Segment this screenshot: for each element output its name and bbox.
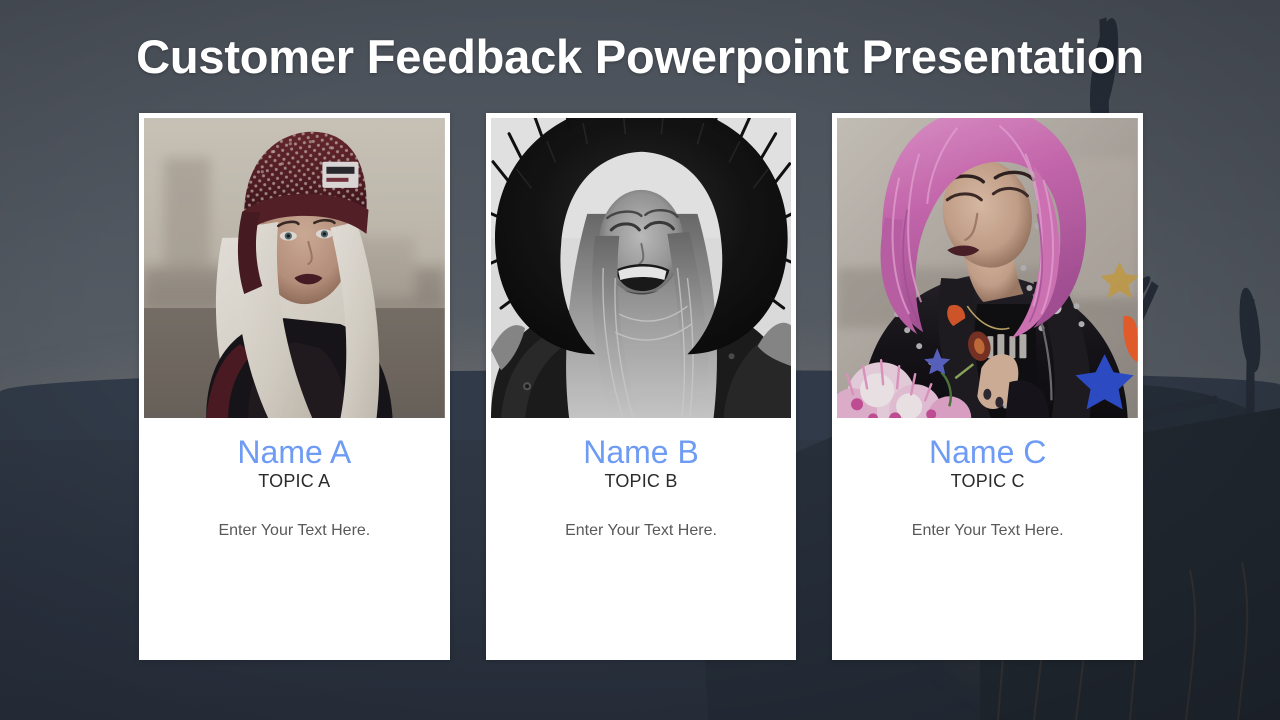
- profile-photo-a: [144, 118, 445, 418]
- profile-name-a: Name A: [153, 434, 436, 471]
- photo-frame-a: [139, 113, 450, 418]
- profile-blurb-c: Enter Your Text Here.: [846, 520, 1129, 542]
- slide: Customer Feedback Powerpoint Presentatio…: [0, 0, 1280, 720]
- profile-photo-b: [491, 118, 792, 418]
- card-body-a: Name A TOPIC A Enter Your Text Here.: [139, 418, 450, 660]
- profile-blurb-a: Enter Your Text Here.: [153, 520, 436, 542]
- profile-card-c[interactable]: Name C TOPIC C Enter Your Text Here.: [832, 113, 1143, 660]
- page-title: Customer Feedback Powerpoint Presentatio…: [0, 32, 1280, 81]
- profile-blurb-b: Enter Your Text Here.: [500, 520, 783, 542]
- card-body-b: Name B TOPIC B Enter Your Text Here.: [486, 418, 797, 660]
- card-body-c: Name C TOPIC C Enter Your Text Here.: [832, 418, 1143, 660]
- photo-frame-c: [832, 113, 1143, 418]
- profile-card-list: Name A TOPIC A Enter Your Text Here.: [139, 113, 1143, 660]
- profile-topic-b: TOPIC B: [500, 470, 783, 493]
- profile-photo-c: [837, 118, 1138, 418]
- profile-name-b: Name B: [500, 434, 783, 471]
- profile-topic-a: TOPIC A: [153, 470, 436, 493]
- profile-topic-c: TOPIC C: [846, 470, 1129, 493]
- photo-frame-b: [486, 113, 797, 418]
- profile-name-c: Name C: [846, 434, 1129, 471]
- profile-card-b[interactable]: Name B TOPIC B Enter Your Text Here.: [486, 113, 797, 660]
- profile-card-a[interactable]: Name A TOPIC A Enter Your Text Here.: [139, 113, 450, 660]
